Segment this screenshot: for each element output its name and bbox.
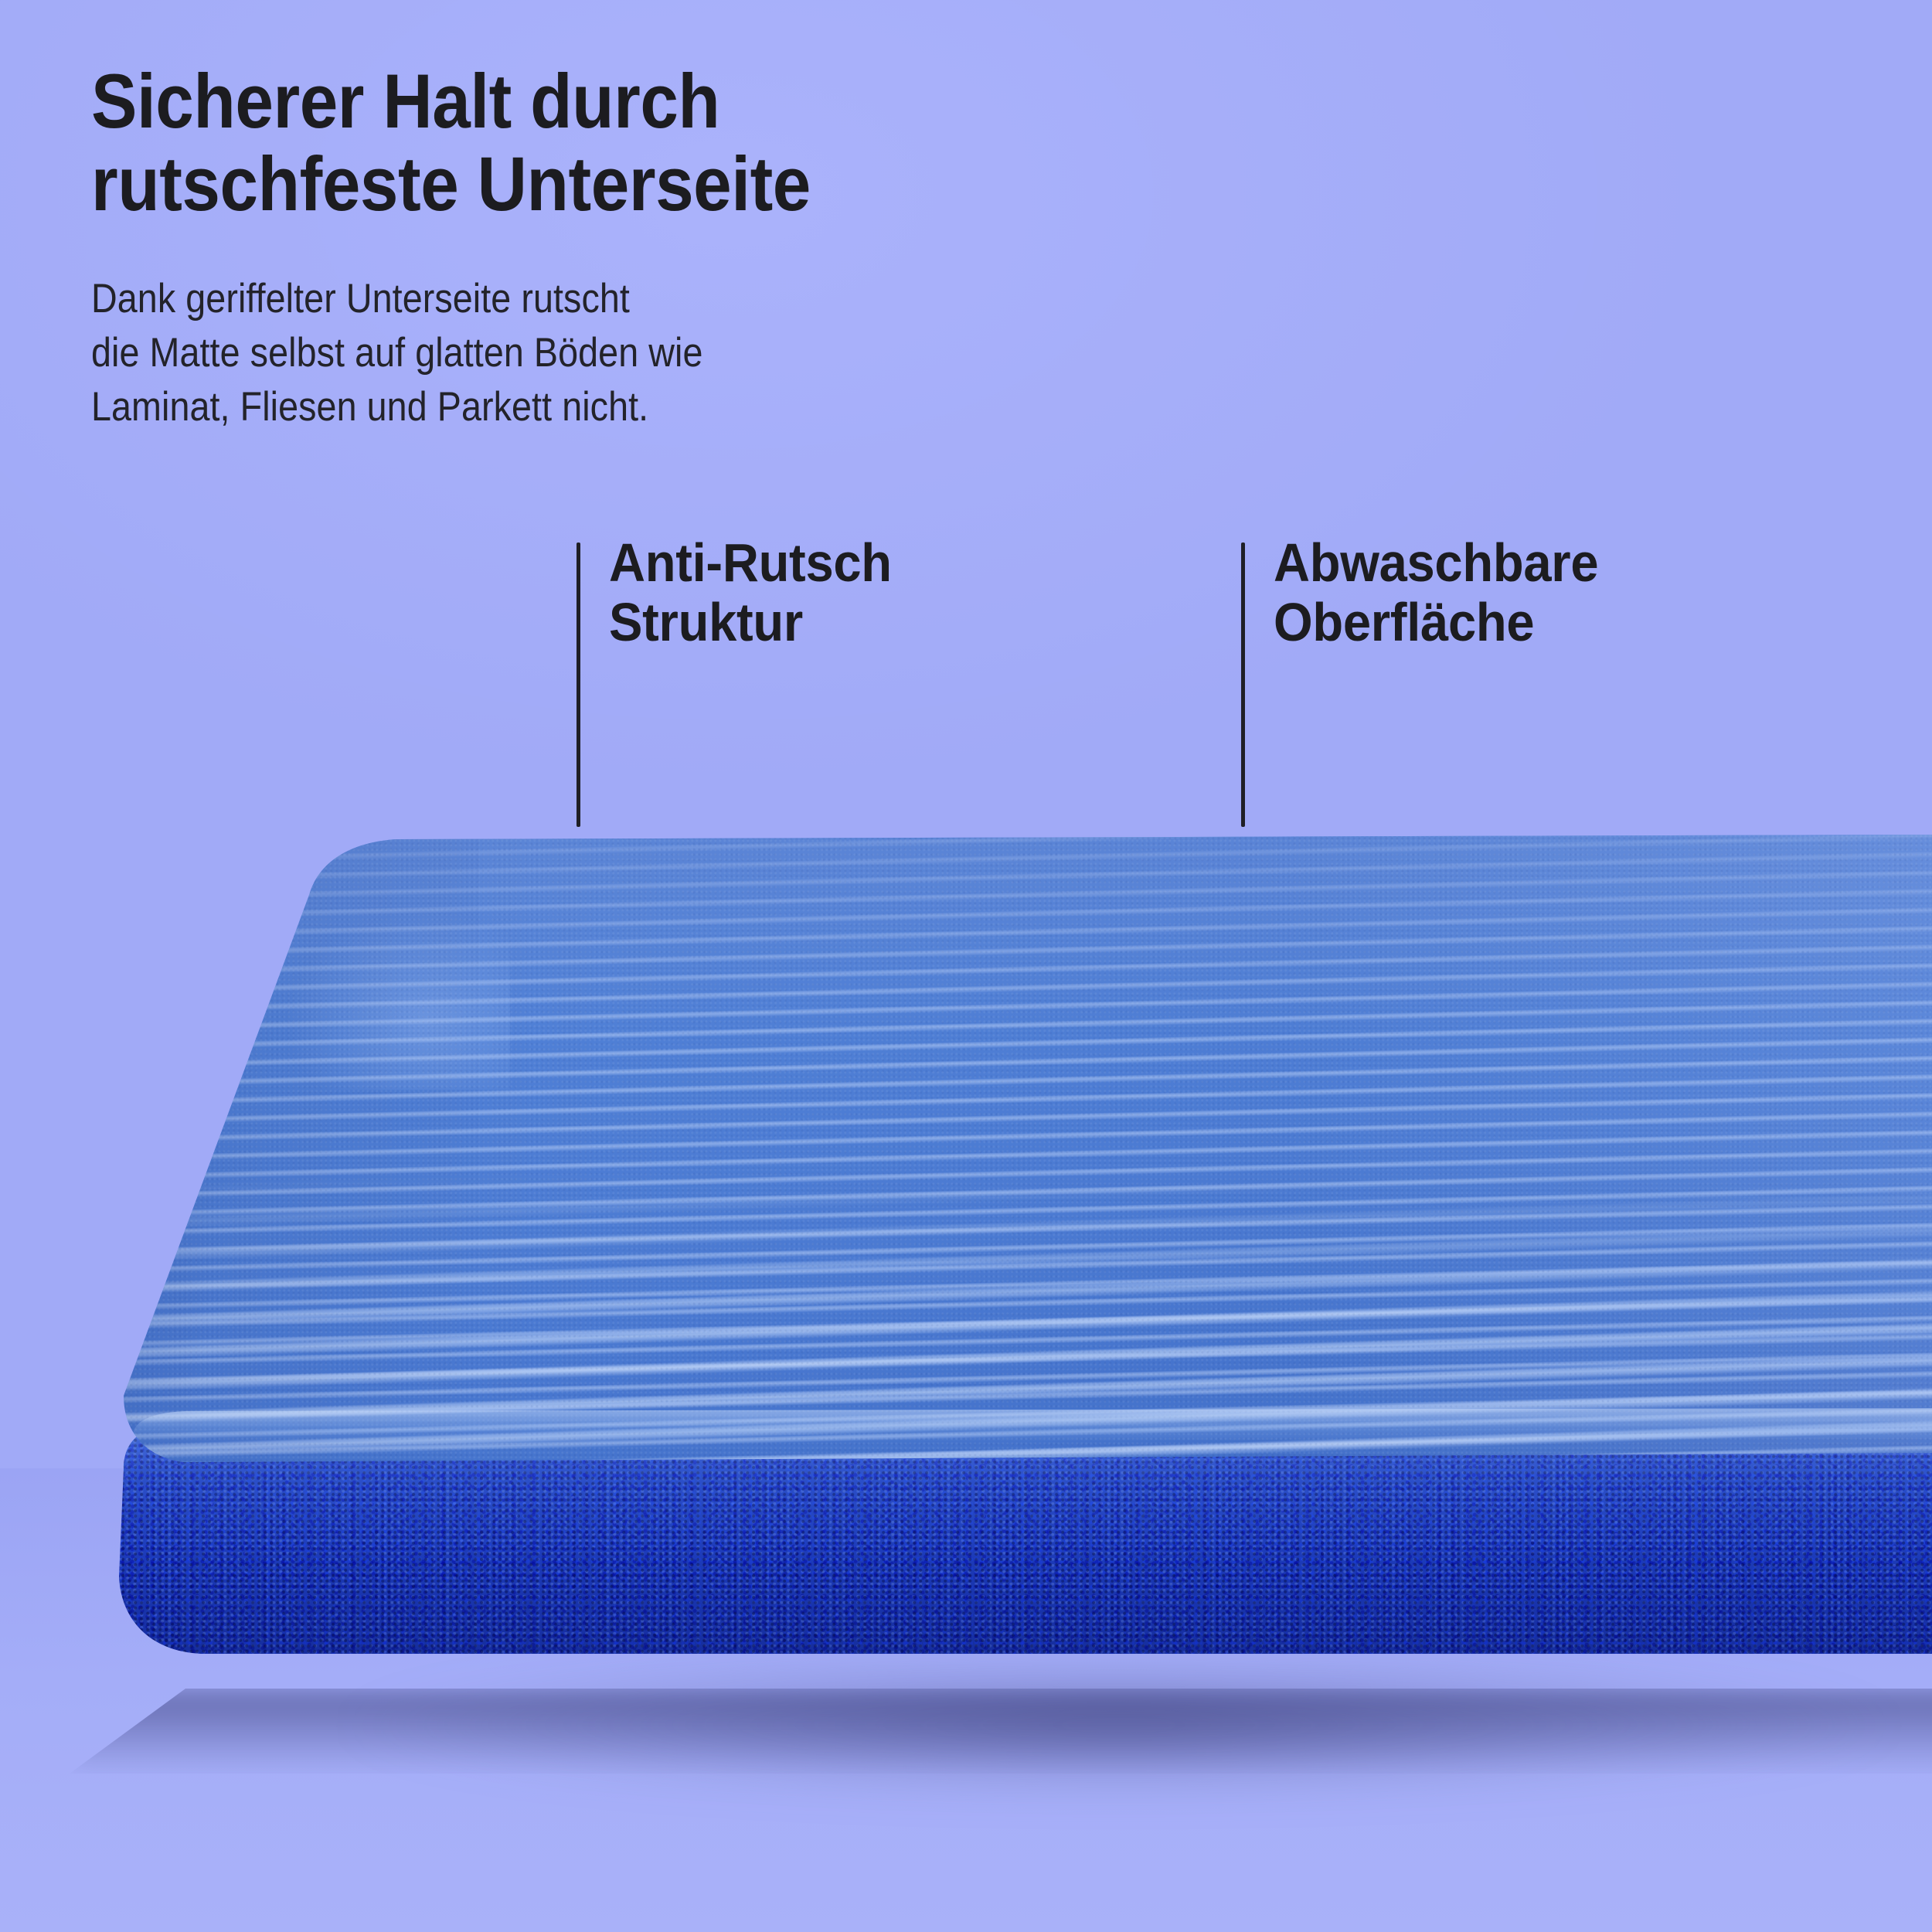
feature-label-line-1: Abwaschbare: [1274, 533, 1762, 593]
mat-top-surface: [46, 835, 1932, 1499]
feature-rule: [1241, 543, 1245, 827]
subcopy: Dank geriffelter Unterseite rutscht die …: [91, 272, 975, 434]
product-contact-shadow: [70, 1689, 1932, 1774]
subcopy-line-2: die Matte selbst auf glatten Böden wie: [91, 326, 975, 380]
headline-line-1: Sicherer Halt durch: [91, 60, 961, 143]
product-feature-banner: Sicherer Halt durch rutschfeste Untersei…: [0, 0, 1932, 1932]
subcopy-line-3: Laminat, Fliesen und Parkett nicht.: [91, 380, 975, 434]
feature-rule: [577, 543, 580, 827]
product-image-foam-mat: [0, 835, 1932, 1932]
subcopy-line-1: Dank geriffelter Unterseite rutscht: [91, 272, 975, 326]
feature-label: Abwaschbare Oberfläche: [1274, 533, 1762, 652]
feature-label-line-1: Anti-Rutsch: [609, 533, 1097, 593]
mat-top-edge-highlight: [46, 1408, 1932, 1444]
feature-label: Anti-Rutsch Struktur: [609, 533, 1097, 652]
headline: Sicherer Halt durch rutschfeste Untersei…: [91, 60, 961, 226]
mat-surface-grain: [46, 835, 1932, 1499]
headline-line-2: rutschfeste Unterseite: [91, 143, 961, 226]
feature-label-line-2: Struktur: [609, 593, 1097, 652]
feature-label-line-2: Oberfläche: [1274, 593, 1762, 652]
